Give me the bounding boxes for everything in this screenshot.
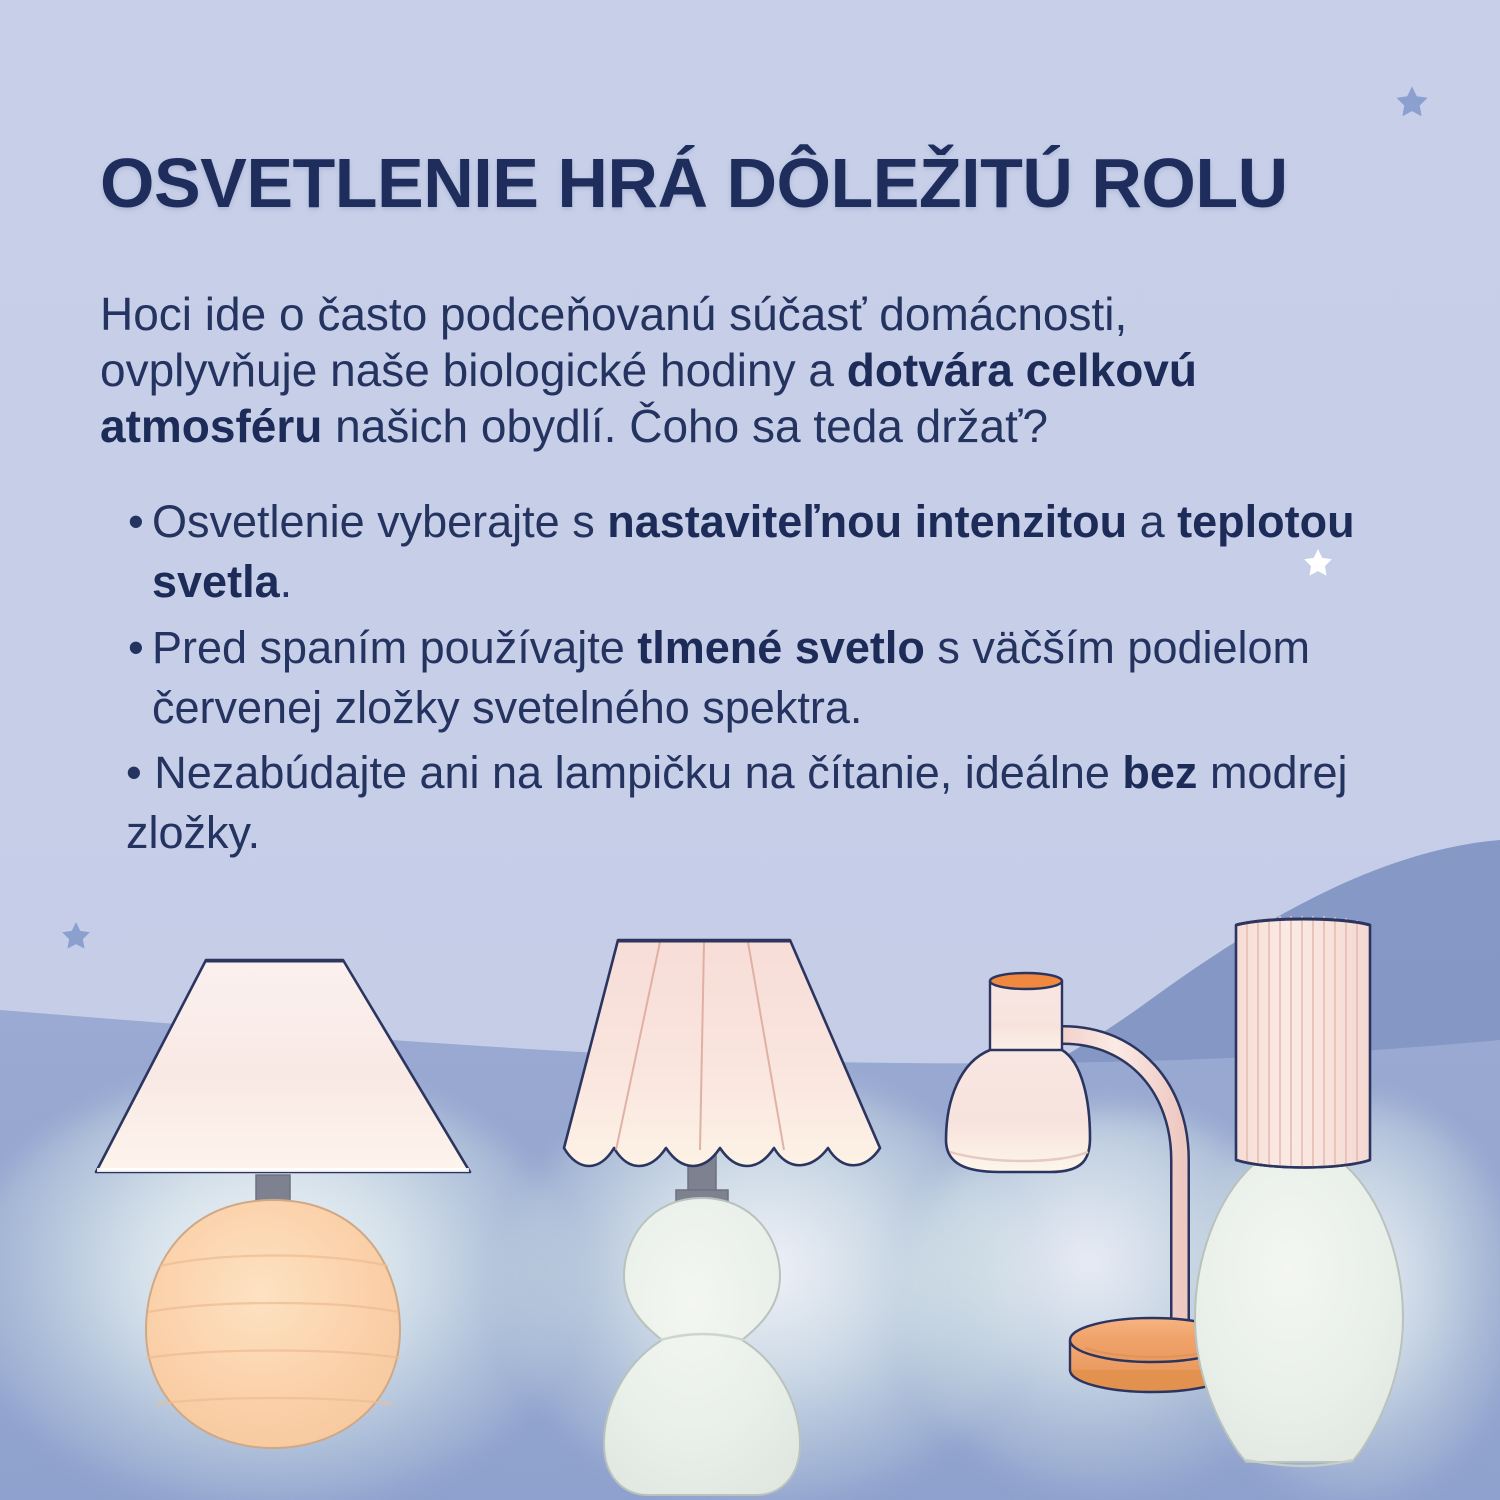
lamp-1-base (146, 1200, 400, 1448)
lamp-1-shade (96, 960, 470, 1172)
infographic-poster: OSVETLENIE HRÁ DÔLEŽITÚ ROLU Hoci ide o … (0, 0, 1500, 1500)
lamp-2-scalloped-shade-table-lamp (564, 940, 880, 1495)
lamp-1-conical-shade-table-lamp (96, 960, 470, 1448)
lamp-4-pleated-cylinder-table-lamp (1195, 916, 1403, 1466)
lamp-4-base (1195, 1165, 1403, 1462)
lamp-4-shade (1236, 919, 1370, 1168)
lamp-3-head (946, 1050, 1090, 1172)
lamps-illustration (0, 0, 1500, 1500)
lamp-3-head-neck (990, 982, 1062, 1057)
lamp-2-base (604, 1198, 800, 1495)
lamp-2-shade (564, 940, 880, 1166)
lamp-3-gooseneck-desk-lamp (946, 973, 1234, 1392)
lamp-3-head-cap (990, 973, 1062, 989)
